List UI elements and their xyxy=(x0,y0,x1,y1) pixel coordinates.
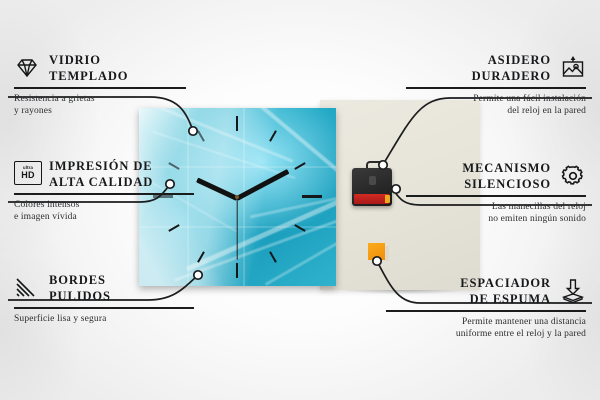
feature-title: MECANISMO xyxy=(462,160,551,176)
clock-second-hand xyxy=(236,198,237,260)
feature-title-2: SILENCIOSO xyxy=(462,176,551,192)
feature-subtitle: Colores intensos e imagen vívida xyxy=(14,199,194,225)
clock-tick-12 xyxy=(236,116,238,131)
battery-terminal xyxy=(385,195,390,203)
clock-tick-6 xyxy=(236,263,238,278)
feature-bordes-pulidos[interactable]: BORDES PULIDOS Superficie lisa y segura xyxy=(14,272,194,325)
connector-dot-mecanismo xyxy=(392,185,400,193)
infographic-canvas: VIDRIO TEMPLADO Resistencia a grietas y … xyxy=(0,0,600,400)
clock-tick-2 xyxy=(294,162,305,170)
feature-title-2: PULIDOS xyxy=(49,288,111,304)
clock-center-pin xyxy=(235,195,239,199)
ultra-hd-icon: ultra HD xyxy=(14,161,40,187)
connector-dot-asidero xyxy=(379,161,387,169)
feature-espaciador-de-espuma[interactable]: ESPACIADOR DE ESPUMA Permite mantener un… xyxy=(386,275,586,341)
divider xyxy=(14,87,186,89)
clock-mechanism xyxy=(352,168,392,206)
connector-dot-espaciador xyxy=(373,257,381,265)
mechanism-shaft xyxy=(369,176,376,185)
mechanism-hook xyxy=(366,161,383,172)
feature-title: IMPRESIÓN DE xyxy=(49,158,153,174)
feature-subtitle: Resistencia a grietas y rayones xyxy=(14,93,186,119)
clock-hour-hand xyxy=(196,178,238,201)
clock-tick-5 xyxy=(269,251,277,262)
feature-title: VIDRIO xyxy=(49,52,128,68)
feature-title-2: DURADERO xyxy=(472,68,551,84)
feature-subtitle: Las manecillas del reloj no emiten ningú… xyxy=(406,201,586,227)
divider xyxy=(406,87,586,89)
clock-minute-hand xyxy=(236,169,290,201)
feature-title: BORDES xyxy=(49,272,111,288)
gear-icon xyxy=(560,163,586,189)
clock-tick-8 xyxy=(168,224,179,232)
clock-tick-3 xyxy=(302,195,322,198)
divider xyxy=(14,193,194,195)
feature-subtitle: Superficie lisa y segura xyxy=(14,313,194,326)
foam-spacer-icon xyxy=(560,278,586,304)
feature-subtitle: Permite mantener una distancia uniforme … xyxy=(386,316,586,342)
diamond-icon xyxy=(14,55,40,81)
divider xyxy=(406,195,586,197)
clock-tick-11 xyxy=(197,130,205,141)
hd-label: HD xyxy=(21,171,35,180)
battery xyxy=(354,194,389,204)
feature-impresion-alta-calidad[interactable]: ultra HD IMPRESIÓN DE ALTA CALIDAD Color… xyxy=(14,158,194,224)
feature-title: ASIDERO xyxy=(472,52,551,68)
polished-edges-icon xyxy=(14,275,40,301)
feature-title: ESPACIADOR xyxy=(460,275,551,291)
feature-title-2: TEMPLADO xyxy=(49,68,128,84)
clock-tick-4 xyxy=(294,224,305,232)
feature-mecanismo-silencioso[interactable]: MECANISMO SILENCIOSO Las manecillas del … xyxy=(406,160,586,226)
clock-tick-7 xyxy=(197,251,205,262)
divider xyxy=(386,310,586,312)
connector-dot-vidrio xyxy=(189,127,197,135)
foam-spacer-side xyxy=(385,246,389,261)
clock-tick-1 xyxy=(269,130,277,141)
feature-title-2: ALTA CALIDAD xyxy=(49,174,153,190)
foam-spacer xyxy=(368,243,385,260)
feature-vidrio-templado[interactable]: VIDRIO TEMPLADO Resistencia a grietas y … xyxy=(14,52,186,118)
connector-dot-bordes xyxy=(194,271,202,279)
feature-asidero-duradero[interactable]: ASIDERO DURADERO Permite una fácil insta… xyxy=(406,52,586,118)
divider xyxy=(14,307,194,309)
feature-title-2: DE ESPUMA xyxy=(460,291,551,307)
picture-hanger-icon xyxy=(560,55,586,81)
feature-subtitle: Permite una fácil instalación del reloj … xyxy=(406,93,586,119)
